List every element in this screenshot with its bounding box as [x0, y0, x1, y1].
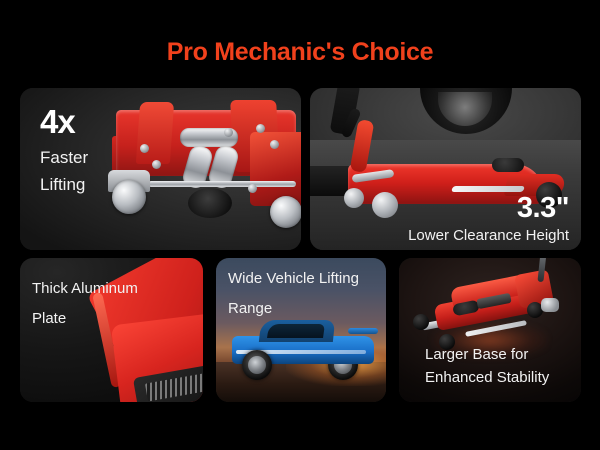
caster-wheel-rear [270, 196, 301, 228]
feature-card-faster-lifting-copy: 4x Faster Lifting [40, 105, 88, 195]
jack-dark-wheel-shape [188, 188, 232, 218]
faster-lifting-line-1: Faster [40, 148, 88, 168]
bolt-icon [270, 140, 279, 149]
feature-card-clearance-copy: 3.3" Lower Clearance Height [408, 194, 569, 244]
feature-card-faster-lifting[interactable]: 4x Faster Lifting [20, 88, 301, 250]
feature-card-clearance-height[interactable]: 3.3" Lower Clearance Height [310, 88, 581, 250]
clearance-line-1: Lower Clearance Height [408, 227, 569, 244]
bolt-icon [256, 124, 265, 133]
jack-wheel-front [413, 314, 429, 330]
car-spoiler-shape [348, 328, 378, 334]
product-infographic: Pro Mechanic's Choice 4x Faster [0, 0, 600, 450]
feature-card-aluminum-plate[interactable]: Thick Aluminum Plate [20, 258, 203, 402]
aluminum-plate-line-1: Thick Aluminum [32, 280, 138, 297]
lifting-range-line-1: Wide Vehicle Lifting [228, 270, 359, 287]
jack-arm-left-shape [136, 102, 174, 164]
larger-base-line-2: Enhanced Stability [425, 369, 549, 386]
jack-chrome-fitting-shape [541, 298, 559, 312]
feature-card-lifting-range-copy: Wide Vehicle Lifting Range [228, 270, 359, 317]
lifting-range-line-2: Range [228, 300, 359, 317]
car-front-wheel-shape [242, 350, 272, 380]
aluminum-plate-line-2: Plate [32, 310, 138, 327]
clearance-headline: 3.3" [408, 194, 569, 223]
bolt-icon [152, 160, 161, 169]
feature-card-lifting-range[interactable]: Wide Vehicle Lifting Range [216, 258, 386, 402]
larger-base-line-1: Larger Base for [425, 346, 549, 363]
bolt-icon [140, 144, 149, 153]
jack-rod-shape [148, 181, 296, 187]
jack-release-knob-shape [492, 158, 524, 172]
faster-lifting-headline: 4x [40, 105, 88, 138]
bolt-icon [248, 184, 257, 193]
caster-wheel-front [372, 192, 398, 218]
caster-wheel-front [112, 180, 146, 214]
car-window-shape [267, 324, 325, 338]
feature-card-larger-base-copy: Larger Base for Enhanced Stability [425, 346, 549, 386]
page-title: Pro Mechanic's Choice [0, 38, 600, 67]
caster-wheel-small [344, 188, 364, 208]
bolt-icon [224, 128, 233, 137]
faster-lifting-line-2: Lifting [40, 175, 88, 195]
feature-card-larger-base[interactable]: Larger Base for Enhanced Stability [399, 258, 581, 402]
feature-card-aluminum-plate-copy: Thick Aluminum Plate [32, 280, 138, 327]
jack-chrome-stripe-shape [451, 186, 525, 192]
